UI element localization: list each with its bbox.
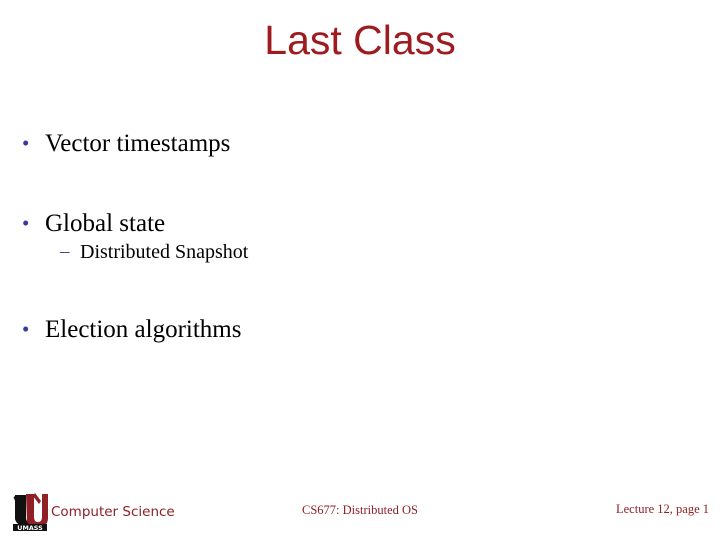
list-item-label: Election algorithms (45, 314, 682, 345)
list-item-label: Global state (45, 208, 682, 239)
list-item: • Election algorithms (22, 314, 682, 345)
course-label: CS677: Distributed OS (0, 503, 720, 518)
list-item-label: Vector timestamps (45, 128, 682, 159)
slide: Last Class • Vector timestamps • Global … (0, 0, 720, 540)
list-item: • Vector timestamps (22, 128, 682, 159)
sub-list-item-label: Distributed Snapshot (80, 239, 682, 265)
bullet-marker-icon: • (22, 208, 45, 239)
bullet-list: • Vector timestamps • Global state – Dis… (22, 128, 682, 345)
list-item: • Global state (22, 208, 682, 239)
list-spacer (22, 265, 682, 314)
bullet-marker-icon: • (22, 128, 45, 159)
sub-list-item: – Distributed Snapshot (60, 239, 682, 265)
page-title: Last Class (0, 18, 720, 63)
bullet-marker-icon: • (22, 314, 45, 345)
svg-text:UMASS: UMASS (17, 524, 43, 531)
page-number-label: Lecture 12, page 1 (616, 502, 709, 517)
dash-marker-icon: – (60, 239, 80, 265)
list-spacer (22, 159, 682, 208)
slide-footer: UMASS Computer Science CS677: Distribute… (0, 489, 720, 533)
